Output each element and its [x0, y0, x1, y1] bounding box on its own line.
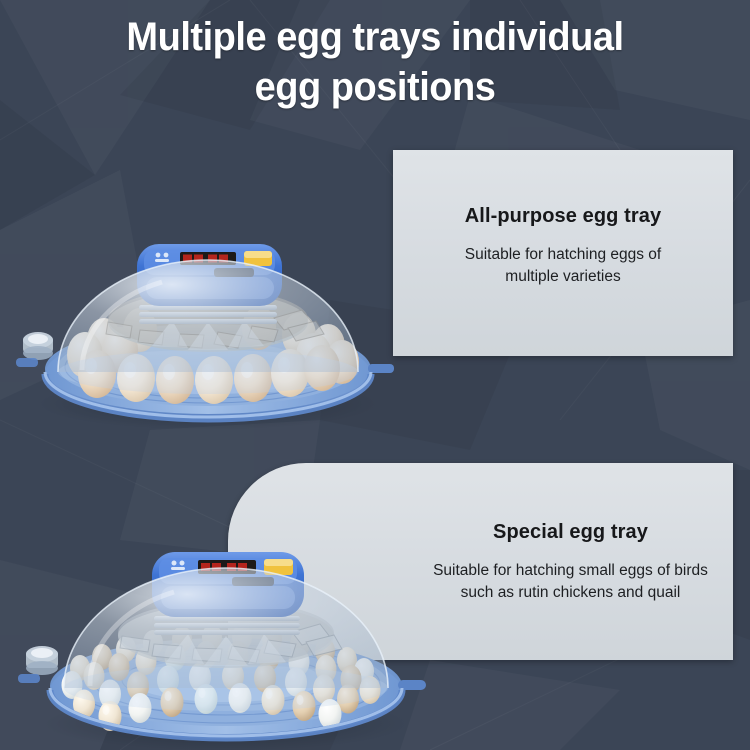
panel-body-special: Suitable for hatching small eggs of bird…	[418, 560, 723, 604]
promo-banner: Multiple egg trays individual egg positi…	[0, 0, 750, 750]
transparent-dome	[64, 568, 388, 711]
water-fill-port	[26, 646, 58, 675]
panel-heading-special: Special egg tray	[418, 520, 723, 544]
water-fill-port	[23, 332, 53, 360]
info-panel-all-purpose: All-purpose egg tray Suitable for hatchi…	[393, 150, 733, 356]
page-title: Multiple egg trays individual egg positi…	[19, 12, 732, 112]
product-image-incubator-special	[14, 528, 434, 750]
transparent-dome	[58, 260, 358, 394]
product-image-incubator-all-purpose	[12, 222, 402, 432]
panel-body-all-purpose: Suitable for hatching eggs of multiple v…	[393, 244, 733, 288]
panel-heading-all-purpose: All-purpose egg tray	[393, 204, 733, 228]
